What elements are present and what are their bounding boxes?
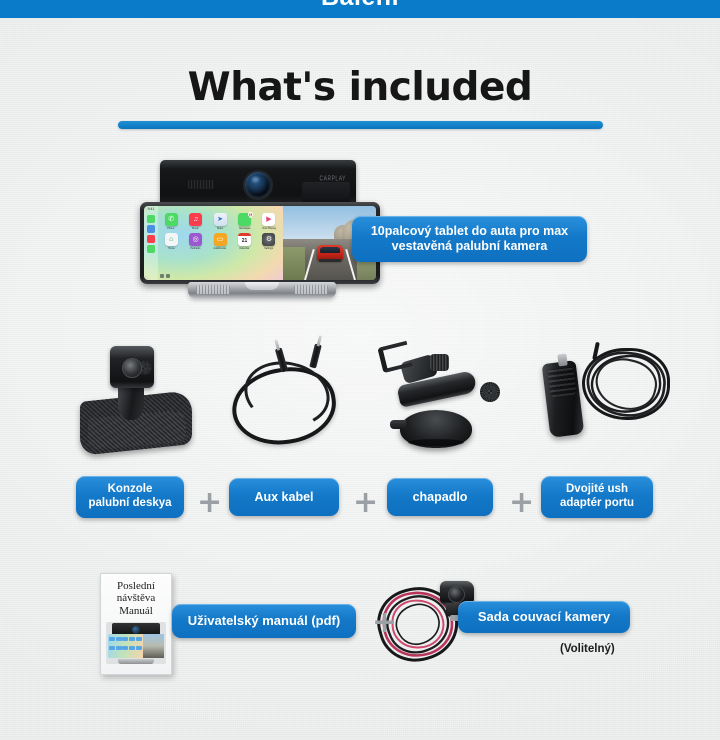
app-label: Messages: [239, 227, 250, 230]
app-podcasts[interactable]: ◎ Podcasts: [184, 233, 206, 250]
label-dashboard-console: Konzole palubní deskya: [76, 476, 184, 518]
carplay-ui: 9:41 ✆ Phone ♫ Music: [144, 206, 283, 280]
optional-note: (Volitelný): [560, 643, 615, 655]
label-user-manual: Uživatelský manuál (pdf): [172, 604, 356, 638]
tablet-stand: [188, 282, 336, 298]
music-icon: ♫: [189, 213, 202, 226]
audiobooks-icon: ▭: [214, 233, 227, 246]
plus-separator-2: +: [353, 488, 378, 518]
app-phone[interactable]: ✆ Phone: [160, 213, 182, 230]
gear-icon: ⚙: [262, 233, 275, 246]
page-title: What's included: [0, 68, 720, 109]
app-calendar[interactable]: 21 Calendar: [233, 233, 255, 250]
sidebar-message-icon: [147, 245, 155, 253]
carplay-app-grid: ✆ Phone ♫ Music ➤ Maps: [160, 213, 280, 250]
label-dual-usb-adapter: Dvojité ush adaptér portu: [541, 476, 653, 518]
phone-icon: ✆: [165, 213, 178, 226]
notification-badge: 1: [248, 212, 253, 217]
label-aux-cable: Aux kabel: [229, 478, 339, 516]
messages-icon: 1: [238, 213, 251, 226]
stand-grip-right: [294, 285, 328, 294]
camera-lens-icon: [243, 170, 273, 200]
carplay-sidebar: 9:41: [144, 206, 158, 280]
status-time: 9:41: [148, 208, 155, 212]
app-maps[interactable]: ➤ Maps: [209, 213, 231, 230]
hero-product-image: CARPLAY 9:41 ✆ Phone: [140, 160, 380, 310]
sidebar-phone-icon: [147, 215, 155, 223]
tablet-screen: 9:41 ✆ Phone ♫ Music: [144, 206, 376, 280]
user-manual-image: Poslední návštěva Manuál: [100, 573, 172, 675]
holder-knob-top: [430, 354, 449, 371]
calendar-icon: 21: [238, 233, 251, 246]
app-now-playing[interactable]: ▶ Now Playing: [258, 213, 280, 230]
cover-photo-lens-icon: [132, 626, 140, 634]
app-settings[interactable]: ⚙ Settings: [258, 233, 280, 250]
suction-release-tab: [390, 420, 406, 429]
console-knob: [137, 360, 152, 375]
aux-plug-right: [309, 344, 322, 369]
brand-text: CARPLAY: [320, 175, 346, 183]
app-home[interactable]: ⌂ Home: [160, 233, 182, 250]
carplay-dock: [160, 274, 170, 278]
plus-separator-1: +: [197, 488, 222, 518]
app-label: Calendar: [240, 247, 250, 250]
label-suction-holder: chapadlo: [387, 478, 493, 516]
stand-grip-left: [196, 285, 230, 294]
app-label: Audiobooks: [214, 247, 227, 250]
manual-booklet: Poslední návštěva Manuál: [100, 573, 172, 675]
app-label: Maps: [217, 227, 223, 230]
home-icon: ⌂: [165, 233, 178, 246]
vehicle-ahead: [317, 245, 343, 261]
holder-knob-rear: [480, 382, 500, 402]
label-reversing-camera: Sada couvací kamery: [458, 601, 630, 633]
heading-underline: [118, 121, 603, 129]
maps-icon: ➤: [214, 213, 227, 226]
roadside-left: [283, 247, 305, 280]
sidebar-music-icon: [147, 235, 155, 243]
cover-photo-stand: [118, 659, 154, 664]
hero-product-label: 10palcový tablet do auta pro max vestavě…: [352, 216, 587, 262]
app-label: Home: [168, 247, 175, 250]
top-banner: Balení: [0, 0, 720, 18]
suction-cup: [400, 410, 472, 448]
app-music[interactable]: ♫ Music: [184, 213, 206, 230]
cover-photo-dashcam: [143, 634, 164, 658]
console-head: [110, 346, 154, 388]
app-label: Now Playing: [262, 227, 276, 230]
infographic-page: Balení What's included CARPLAY 9:41: [0, 0, 720, 740]
speaker-vent-icon: [188, 180, 214, 189]
charger-grip: [547, 367, 576, 398]
cover-photo-apps: [108, 634, 143, 658]
app-audiobooks[interactable]: ▭ Audiobooks: [209, 233, 231, 250]
podcasts-icon: ◎: [189, 233, 202, 246]
app-label: Music: [192, 227, 198, 230]
section-heading: What's included: [0, 68, 720, 129]
tablet-body: 9:41 ✆ Phone ♫ Music: [140, 202, 380, 284]
manual-cover-photo: [106, 622, 166, 664]
charger-cable-coil: [582, 348, 674, 434]
sidebar-nav-icon: [147, 225, 155, 233]
plus-separator-4: +: [372, 608, 397, 638]
cover-photo-screen: [108, 634, 164, 658]
app-messages[interactable]: 1 Messages: [233, 213, 255, 230]
now-playing-icon: ▶: [262, 213, 275, 226]
aux-cable-image: [226, 340, 350, 458]
app-label: Phone: [168, 227, 175, 230]
manual-cover-text: Poslední návštěva Manuál: [117, 580, 155, 617]
suction-holder-image: [372, 336, 502, 460]
app-label: Settings: [265, 247, 274, 250]
car-charger-image: [536, 338, 686, 460]
dashboard-console-image: [78, 340, 198, 460]
plus-separator-3: +: [509, 488, 534, 518]
app-label: Podcasts: [191, 247, 201, 250]
charger-contact-tip: [557, 353, 567, 366]
top-banner-text: Balení: [0, 0, 720, 12]
